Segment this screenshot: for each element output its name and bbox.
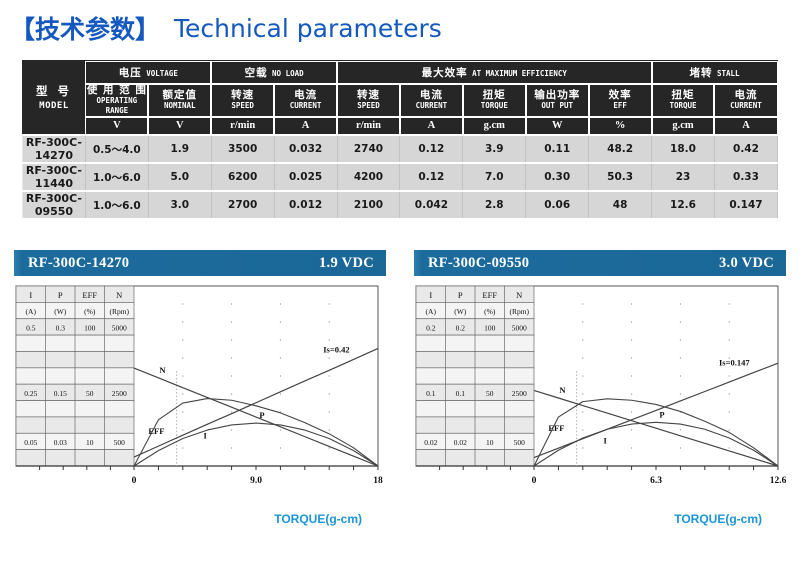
svg-text:5000: 5000 xyxy=(512,324,527,333)
cell-noload-speed: 3500 xyxy=(211,135,274,163)
header-group-voltage: 电压 VOLTAGE xyxy=(85,61,211,84)
svg-text:0: 0 xyxy=(132,476,137,486)
chart-voltage-label: 3.0 VDC xyxy=(719,255,774,272)
x-axis-caption-right: TORQUE(g-cm) xyxy=(674,512,762,526)
cell-maxeff-torque: 2.8 xyxy=(463,191,526,218)
svg-text:50: 50 xyxy=(86,389,94,398)
cell-nominal: 5.0 xyxy=(148,163,211,191)
table-header-group-row: 型 号 MODEL 电压 VOLTAGE 空载 NO LOAD 最大效率 AT … xyxy=(23,61,778,84)
cell-operating-range: 1.0～6.0 xyxy=(85,163,148,191)
page-title: 【技术参数】 Technical parameters xyxy=(10,8,790,48)
table-row: RF-300C-14270 0.5～4.0 1.9 3500 0.032 274… xyxy=(23,135,778,163)
svg-text:P: P xyxy=(659,409,664,419)
cell-noload-current: 0.025 xyxy=(274,163,337,191)
chart-plot-left: IPEFFN(A)(W)(%)(Rpm)0.50.310050000.250.1… xyxy=(14,284,386,514)
cell-operating-range: 1.0～6.0 xyxy=(85,191,148,218)
cell-noload-current: 0.012 xyxy=(274,191,337,218)
svg-text:100: 100 xyxy=(84,324,96,333)
header-group-stall-en: STALL xyxy=(717,69,740,78)
chart-header-left: RF-300C-14270 1.9 VDC xyxy=(14,250,386,276)
unit-maxeff-torque: g.cm xyxy=(463,117,526,136)
svg-text:2500: 2500 xyxy=(112,389,127,398)
header-group-noload-cn: 空载 xyxy=(245,67,268,79)
svg-text:(Rpm): (Rpm) xyxy=(509,307,529,316)
cell-nominal: 1.9 xyxy=(148,135,211,163)
svg-text:500: 500 xyxy=(114,438,126,447)
cell-maxeff-output: 0.11 xyxy=(526,135,589,163)
svg-text:50: 50 xyxy=(486,389,494,398)
cell-stall-current: 0.147 xyxy=(714,191,777,218)
svg-text:(Rpm): (Rpm) xyxy=(109,307,129,316)
header-group-maxeff-en: AT MAXIMUM EFFICIENCY xyxy=(472,69,567,78)
table-row: RF-300C-09550 1.0～6.0 3.0 2700 0.012 210… xyxy=(23,191,778,218)
cell-maxeff-current: 0.12 xyxy=(400,135,463,163)
svg-text:(%): (%) xyxy=(84,307,96,316)
header-group-noload: 空载 NO LOAD xyxy=(211,61,337,84)
svg-text:P: P xyxy=(58,290,63,300)
cell-maxeff-speed: 2740 xyxy=(337,135,400,163)
header-model-en: MODEL xyxy=(23,99,85,113)
unit-stall-torque: g.cm xyxy=(652,117,715,136)
cell-stall-torque: 12.6 xyxy=(652,191,715,218)
svg-text:(A): (A) xyxy=(26,307,37,316)
cell-maxeff-output: 0.30 xyxy=(526,163,589,191)
cell-nominal: 3.0 xyxy=(148,191,211,218)
svg-text:Is=0.147: Is=0.147 xyxy=(719,358,750,368)
svg-text:N: N xyxy=(159,365,166,375)
table-unit-row: V V r/min A r/min A g.cm W % g.cm A xyxy=(23,117,778,136)
svg-text:0.25: 0.25 xyxy=(24,389,37,398)
header-group-stall: 堵转 STALL xyxy=(652,61,778,84)
header-group-stall-cn: 堵转 xyxy=(690,67,713,79)
subheader-stall-current: 电流 CURRENT xyxy=(714,84,777,117)
subheader-maxeff-current: 电流 CURRENT xyxy=(400,84,463,117)
header-group-noload-en: NO LOAD xyxy=(272,69,304,78)
chart-svg-left: IPEFFN(A)(W)(%)(Rpm)0.50.310050000.250.1… xyxy=(14,284,386,514)
svg-text:0.1: 0.1 xyxy=(456,389,466,398)
subheader-maxeff-eff: 效率 EFF xyxy=(589,84,652,117)
unit-stall-current: A xyxy=(714,117,777,136)
chart-model-label: RF-300C-09550 xyxy=(428,255,529,272)
cell-noload-speed: 6200 xyxy=(211,163,274,191)
cell-model: RF-300C-14270 xyxy=(23,135,86,163)
chart-plot-right: IPEFFN(A)(W)(%)(Rpm)0.20.210050000.10.15… xyxy=(414,284,786,514)
cell-stall-current: 0.33 xyxy=(714,163,777,191)
svg-text:0.03: 0.03 xyxy=(54,438,67,447)
cell-stall-torque: 23 xyxy=(652,163,715,191)
cell-model: RF-300C-11440 xyxy=(23,163,86,191)
svg-text:N: N xyxy=(559,385,566,395)
header-model-cn: 型 号 xyxy=(23,83,85,99)
header-model: 型 号 MODEL xyxy=(23,61,86,136)
svg-text:EFF: EFF xyxy=(482,290,497,300)
cell-maxeff-output: 0.06 xyxy=(526,191,589,218)
svg-text:0.05: 0.05 xyxy=(24,438,37,447)
svg-text:(%): (%) xyxy=(484,307,496,316)
svg-text:P: P xyxy=(458,290,463,300)
header-group-maxeff: 最大效率 AT MAXIMUM EFFICIENCY xyxy=(337,61,652,84)
unit-maxeff-eff: % xyxy=(589,117,652,136)
svg-text:N: N xyxy=(116,290,122,300)
svg-text:N: N xyxy=(516,290,522,300)
svg-text:18: 18 xyxy=(373,476,383,486)
table-subheader-row: 使 用 范 围 OPERATING RANGE 额定值 NOMINAL 转速 S… xyxy=(23,84,778,117)
subheader-nominal: 额定值 NOMINAL xyxy=(148,84,211,117)
svg-text:EFF: EFF xyxy=(548,423,564,433)
cell-maxeff-speed: 2100 xyxy=(337,191,400,218)
cell-noload-speed: 2700 xyxy=(211,191,274,218)
svg-text:0.2: 0.2 xyxy=(426,324,436,333)
cell-model: RF-300C-09550 xyxy=(23,191,86,218)
header-group-voltage-cn: 电压 xyxy=(119,67,142,79)
svg-text:100: 100 xyxy=(484,324,496,333)
svg-text:500: 500 xyxy=(514,438,526,447)
svg-text:(W): (W) xyxy=(454,307,467,316)
svg-text:(W): (W) xyxy=(54,307,67,316)
svg-text:0.5: 0.5 xyxy=(26,324,36,333)
svg-text:9.0: 9.0 xyxy=(250,476,262,486)
unit-operating-range: V xyxy=(85,117,148,136)
unit-noload-current: A xyxy=(274,117,337,136)
subheader-noload-speed: 转速 SPEED xyxy=(211,84,274,117)
svg-text:P: P xyxy=(259,410,264,420)
svg-text:0.02: 0.02 xyxy=(424,438,437,447)
table-row: RF-300C-11440 1.0～6.0 5.0 6200 0.025 420… xyxy=(23,163,778,191)
cell-maxeff-torque: 3.9 xyxy=(463,135,526,163)
chart-svg-right: IPEFFN(A)(W)(%)(Rpm)0.20.210050000.10.15… xyxy=(414,284,786,514)
page-title-cn: 【技术参数】 xyxy=(10,10,160,46)
header-group-voltage-en: VOLTAGE xyxy=(146,69,178,78)
cell-maxeff-current: 0.12 xyxy=(400,163,463,191)
cell-noload-current: 0.032 xyxy=(274,135,337,163)
svg-text:6.3: 6.3 xyxy=(650,476,662,486)
header-group-maxeff-cn: 最大效率 xyxy=(422,67,468,79)
cell-maxeff-torque: 7.0 xyxy=(463,163,526,191)
svg-text:Is=0.42: Is=0.42 xyxy=(323,344,349,354)
chart-header-right: RF-300C-09550 3.0 VDC xyxy=(414,250,786,276)
svg-text:I: I xyxy=(429,290,432,300)
cell-stall-torque: 18.0 xyxy=(652,135,715,163)
unit-maxeff-output: W xyxy=(526,117,589,136)
svg-text:10: 10 xyxy=(486,438,494,447)
performance-chart-panel-left: RF-300C-14270 1.9 VDC IPEFFN(A)(W)(%)(Rp… xyxy=(14,250,386,550)
svg-text:0.15: 0.15 xyxy=(54,389,67,398)
specification-table: 型 号 MODEL 电压 VOLTAGE 空载 NO LOAD 最大效率 AT … xyxy=(22,60,778,218)
unit-maxeff-speed: r/min xyxy=(337,117,400,136)
svg-text:0.2: 0.2 xyxy=(456,324,466,333)
cell-maxeff-eff: 48.2 xyxy=(589,135,652,163)
x-axis-caption-left: TORQUE(g-cm) xyxy=(274,512,362,526)
subheader-noload-current: 电流 CURRENT xyxy=(274,84,337,117)
subheader-stall-torque: 扭矩 TORQUE xyxy=(652,84,715,117)
cell-stall-current: 0.42 xyxy=(714,135,777,163)
svg-text:0.3: 0.3 xyxy=(56,324,66,333)
cell-maxeff-speed: 4200 xyxy=(337,163,400,191)
svg-text:0: 0 xyxy=(532,476,537,486)
unit-noload-speed: r/min xyxy=(211,117,274,136)
svg-text:0.02: 0.02 xyxy=(454,438,467,447)
subheader-maxeff-torque: 扭矩 TORQUE xyxy=(463,84,526,117)
svg-text:5000: 5000 xyxy=(112,324,127,333)
chart-voltage-label: 1.9 VDC xyxy=(319,255,374,272)
svg-text:I: I xyxy=(29,290,32,300)
page-title-en: Technical parameters xyxy=(174,14,442,43)
chart-model-label: RF-300C-14270 xyxy=(28,255,129,272)
cell-maxeff-eff: 50.3 xyxy=(589,163,652,191)
svg-text:12.6: 12.6 xyxy=(770,476,786,486)
svg-text:(A): (A) xyxy=(426,307,437,316)
unit-nominal: V xyxy=(148,117,211,136)
svg-text:10: 10 xyxy=(86,438,94,447)
cell-operating-range: 0.5～4.0 xyxy=(85,135,148,163)
performance-chart-panel-right: RF-300C-09550 3.0 VDC IPEFFN(A)(W)(%)(Rp… xyxy=(414,250,786,550)
unit-maxeff-current: A xyxy=(400,117,463,136)
svg-text:0.1: 0.1 xyxy=(426,389,436,398)
subheader-maxeff-output: 输出功率 OUT PUT xyxy=(526,84,589,117)
cell-maxeff-eff: 48 xyxy=(589,191,652,218)
subheader-maxeff-speed: 转速 SPEED xyxy=(337,84,400,117)
svg-text:EFF: EFF xyxy=(148,426,164,436)
svg-text:EFF: EFF xyxy=(82,290,97,300)
cell-maxeff-current: 0.042 xyxy=(400,191,463,218)
svg-text:2500: 2500 xyxy=(512,389,527,398)
subheader-operating-range: 使 用 范 围 OPERATING RANGE xyxy=(85,84,148,117)
